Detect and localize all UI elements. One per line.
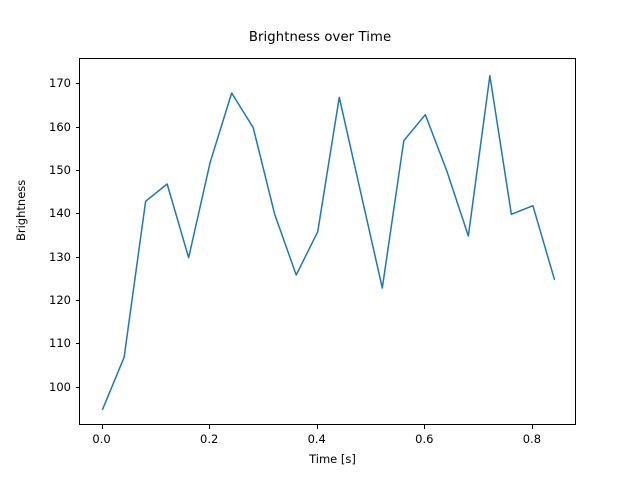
y-tick-label: 110 <box>40 336 71 350</box>
y-tick-label: 120 <box>40 293 71 307</box>
x-tick-label: 0.2 <box>200 432 218 446</box>
x-tick-label: 0.6 <box>415 432 433 446</box>
plot-axes <box>79 58 576 425</box>
y-tick-mark <box>76 213 80 214</box>
y-tick-mark <box>76 83 80 84</box>
y-tick-mark <box>76 127 80 128</box>
x-tick-mark <box>424 425 425 429</box>
x-tick-mark <box>209 425 210 429</box>
x-tick-label: 0.4 <box>308 432 326 446</box>
y-tick-label: 130 <box>40 250 71 264</box>
y-tick-label: 170 <box>40 76 71 90</box>
y-tick-mark <box>76 343 80 344</box>
x-axis-label: Time [s] <box>0 452 640 466</box>
x-tick-mark <box>532 425 533 429</box>
x-tick-label: 0.8 <box>523 432 541 446</box>
y-tick-label: 160 <box>40 120 71 134</box>
x-tick-label: 0.0 <box>92 432 110 446</box>
y-tick-label: 150 <box>40 163 71 177</box>
y-tick-label: 140 <box>40 206 71 220</box>
y-tick-mark <box>76 170 80 171</box>
x-tick-mark <box>317 425 318 429</box>
y-tick-mark <box>76 257 80 258</box>
line-series-brightness <box>80 59 577 426</box>
y-tick-mark <box>76 387 80 388</box>
chart-title: Brightness over Time <box>0 30 640 45</box>
y-tick-label: 100 <box>40 380 71 394</box>
x-tick-mark <box>102 425 103 429</box>
figure-canvas: Brightness over Time Brightness 10011012… <box>0 0 640 480</box>
y-axis-label: Brightness <box>14 180 28 241</box>
y-tick-mark <box>76 300 80 301</box>
